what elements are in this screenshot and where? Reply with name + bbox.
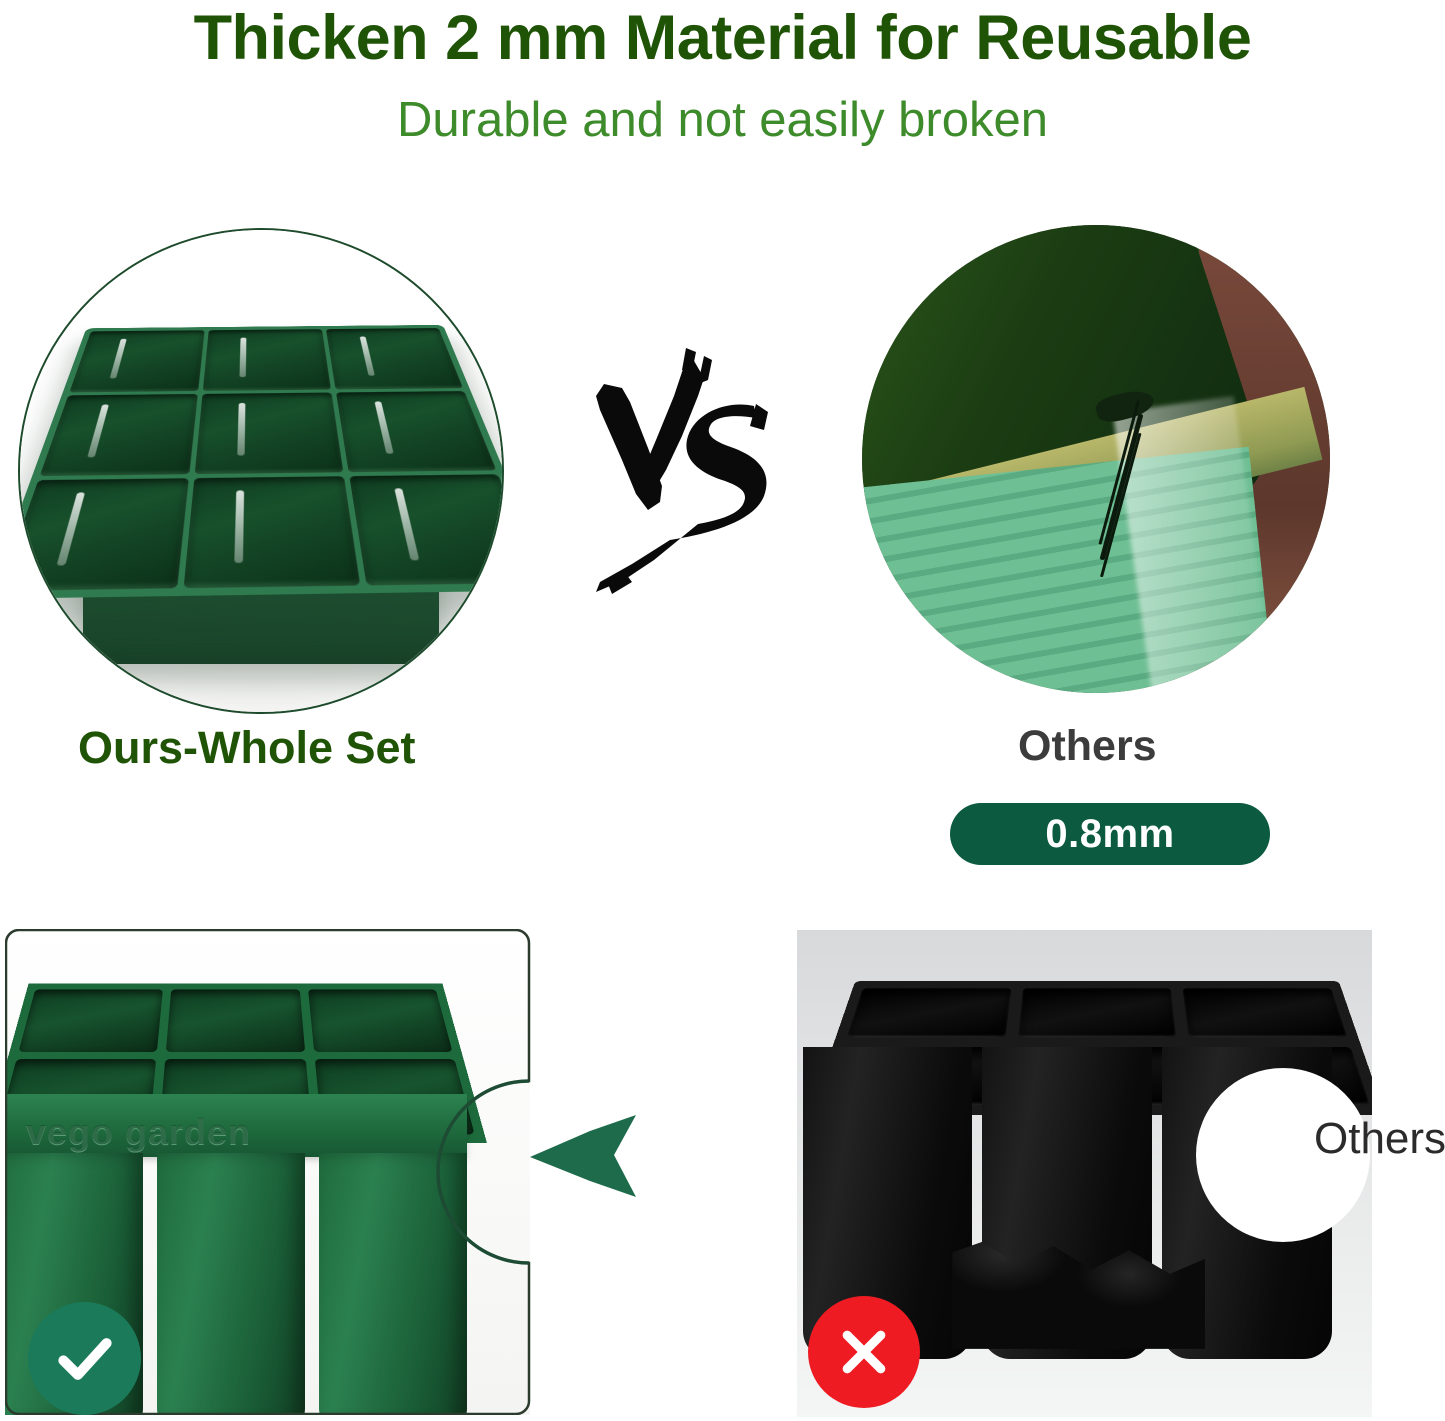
arrow-left-icon [5, 929, 125, 1025]
others-detail-photo-circle [862, 225, 1330, 693]
green-tray-illustration [20, 230, 502, 712]
page-subtitle: Durable and not easily broken [0, 92, 1445, 148]
tray-cell [183, 476, 360, 589]
tray-cell [203, 329, 331, 391]
x-icon [829, 1317, 899, 1387]
others-bottom-label: Others [1314, 1114, 1445, 1164]
page-title: Thicken 2 mm Material for Reusable [0, 2, 1445, 74]
thickness-badge: 0.8mm [950, 803, 1270, 865]
tray-pot [319, 1153, 467, 1415]
brand-emboss-text: vego garden [26, 1111, 251, 1153]
tray-cell [166, 990, 305, 1053]
x-status-badge [808, 1296, 920, 1408]
ours-label: Ours-Whole Set [78, 722, 416, 774]
thickness-badge-text: 0.8mm [1045, 812, 1174, 857]
tray-cell [846, 988, 1010, 1037]
tray-cell [308, 990, 453, 1053]
tray-cell [1182, 988, 1346, 1037]
cracked-pot-illustration [862, 225, 1330, 693]
check-icon [49, 1323, 121, 1395]
vs-icon [578, 344, 800, 600]
arrow-left-icon [528, 1113, 638, 1199]
tray-cell [1017, 988, 1175, 1037]
product-comparison-infographic: Thicken 2 mm Material for Reusable Durab… [0, 0, 1445, 1421]
tray-cell [40, 393, 198, 475]
tray-pot [157, 1153, 305, 1415]
tray-cells-grid [18, 324, 504, 598]
tray-cell [349, 474, 504, 586]
tray-cell [326, 328, 463, 389]
tray-cell [195, 392, 344, 473]
tray-cell [69, 330, 204, 392]
ours-detail-photo-circle [18, 228, 504, 714]
check-status-badge [28, 1302, 141, 1415]
others-label: Others [1018, 722, 1157, 771]
tray-cell [336, 391, 496, 472]
tray-cell [18, 477, 189, 590]
